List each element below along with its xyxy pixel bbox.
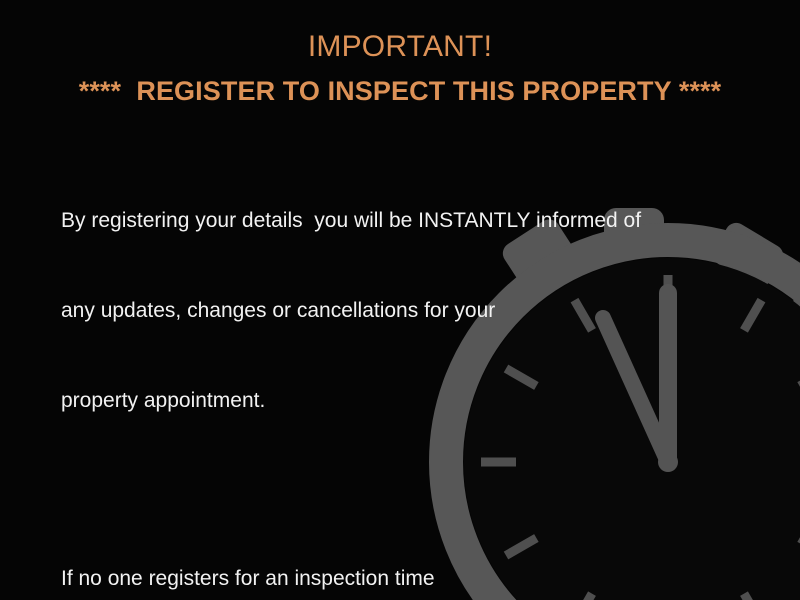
slide-text-content: IMPORTANT! **** REGISTER TO INSPECT THIS… [0, 0, 800, 600]
paragraph1-line3: property appointment. [61, 386, 721, 416]
paragraph1-line2: any updates, changes or cancellations fo… [61, 296, 721, 326]
headline-register: **** REGISTER TO INSPECT THIS PROPERTY *… [0, 73, 800, 109]
paragraph2-line1: If no one registers for an inspection ti… [61, 564, 721, 594]
body-text-block: By registering your details you will be … [61, 146, 721, 600]
slide-canvas: IMPORTANT! **** REGISTER TO INSPECT THIS… [0, 0, 800, 600]
paragraph-spacer-1 [61, 476, 721, 504]
paragraph-registering-details: By registering your details you will be … [61, 146, 721, 476]
paragraph-no-registration-warning: If no one registers for an inspection ti… [61, 504, 721, 600]
headline-important: IMPORTANT! [0, 28, 800, 66]
paragraph1-line1: By registering your details you will be … [61, 206, 721, 236]
